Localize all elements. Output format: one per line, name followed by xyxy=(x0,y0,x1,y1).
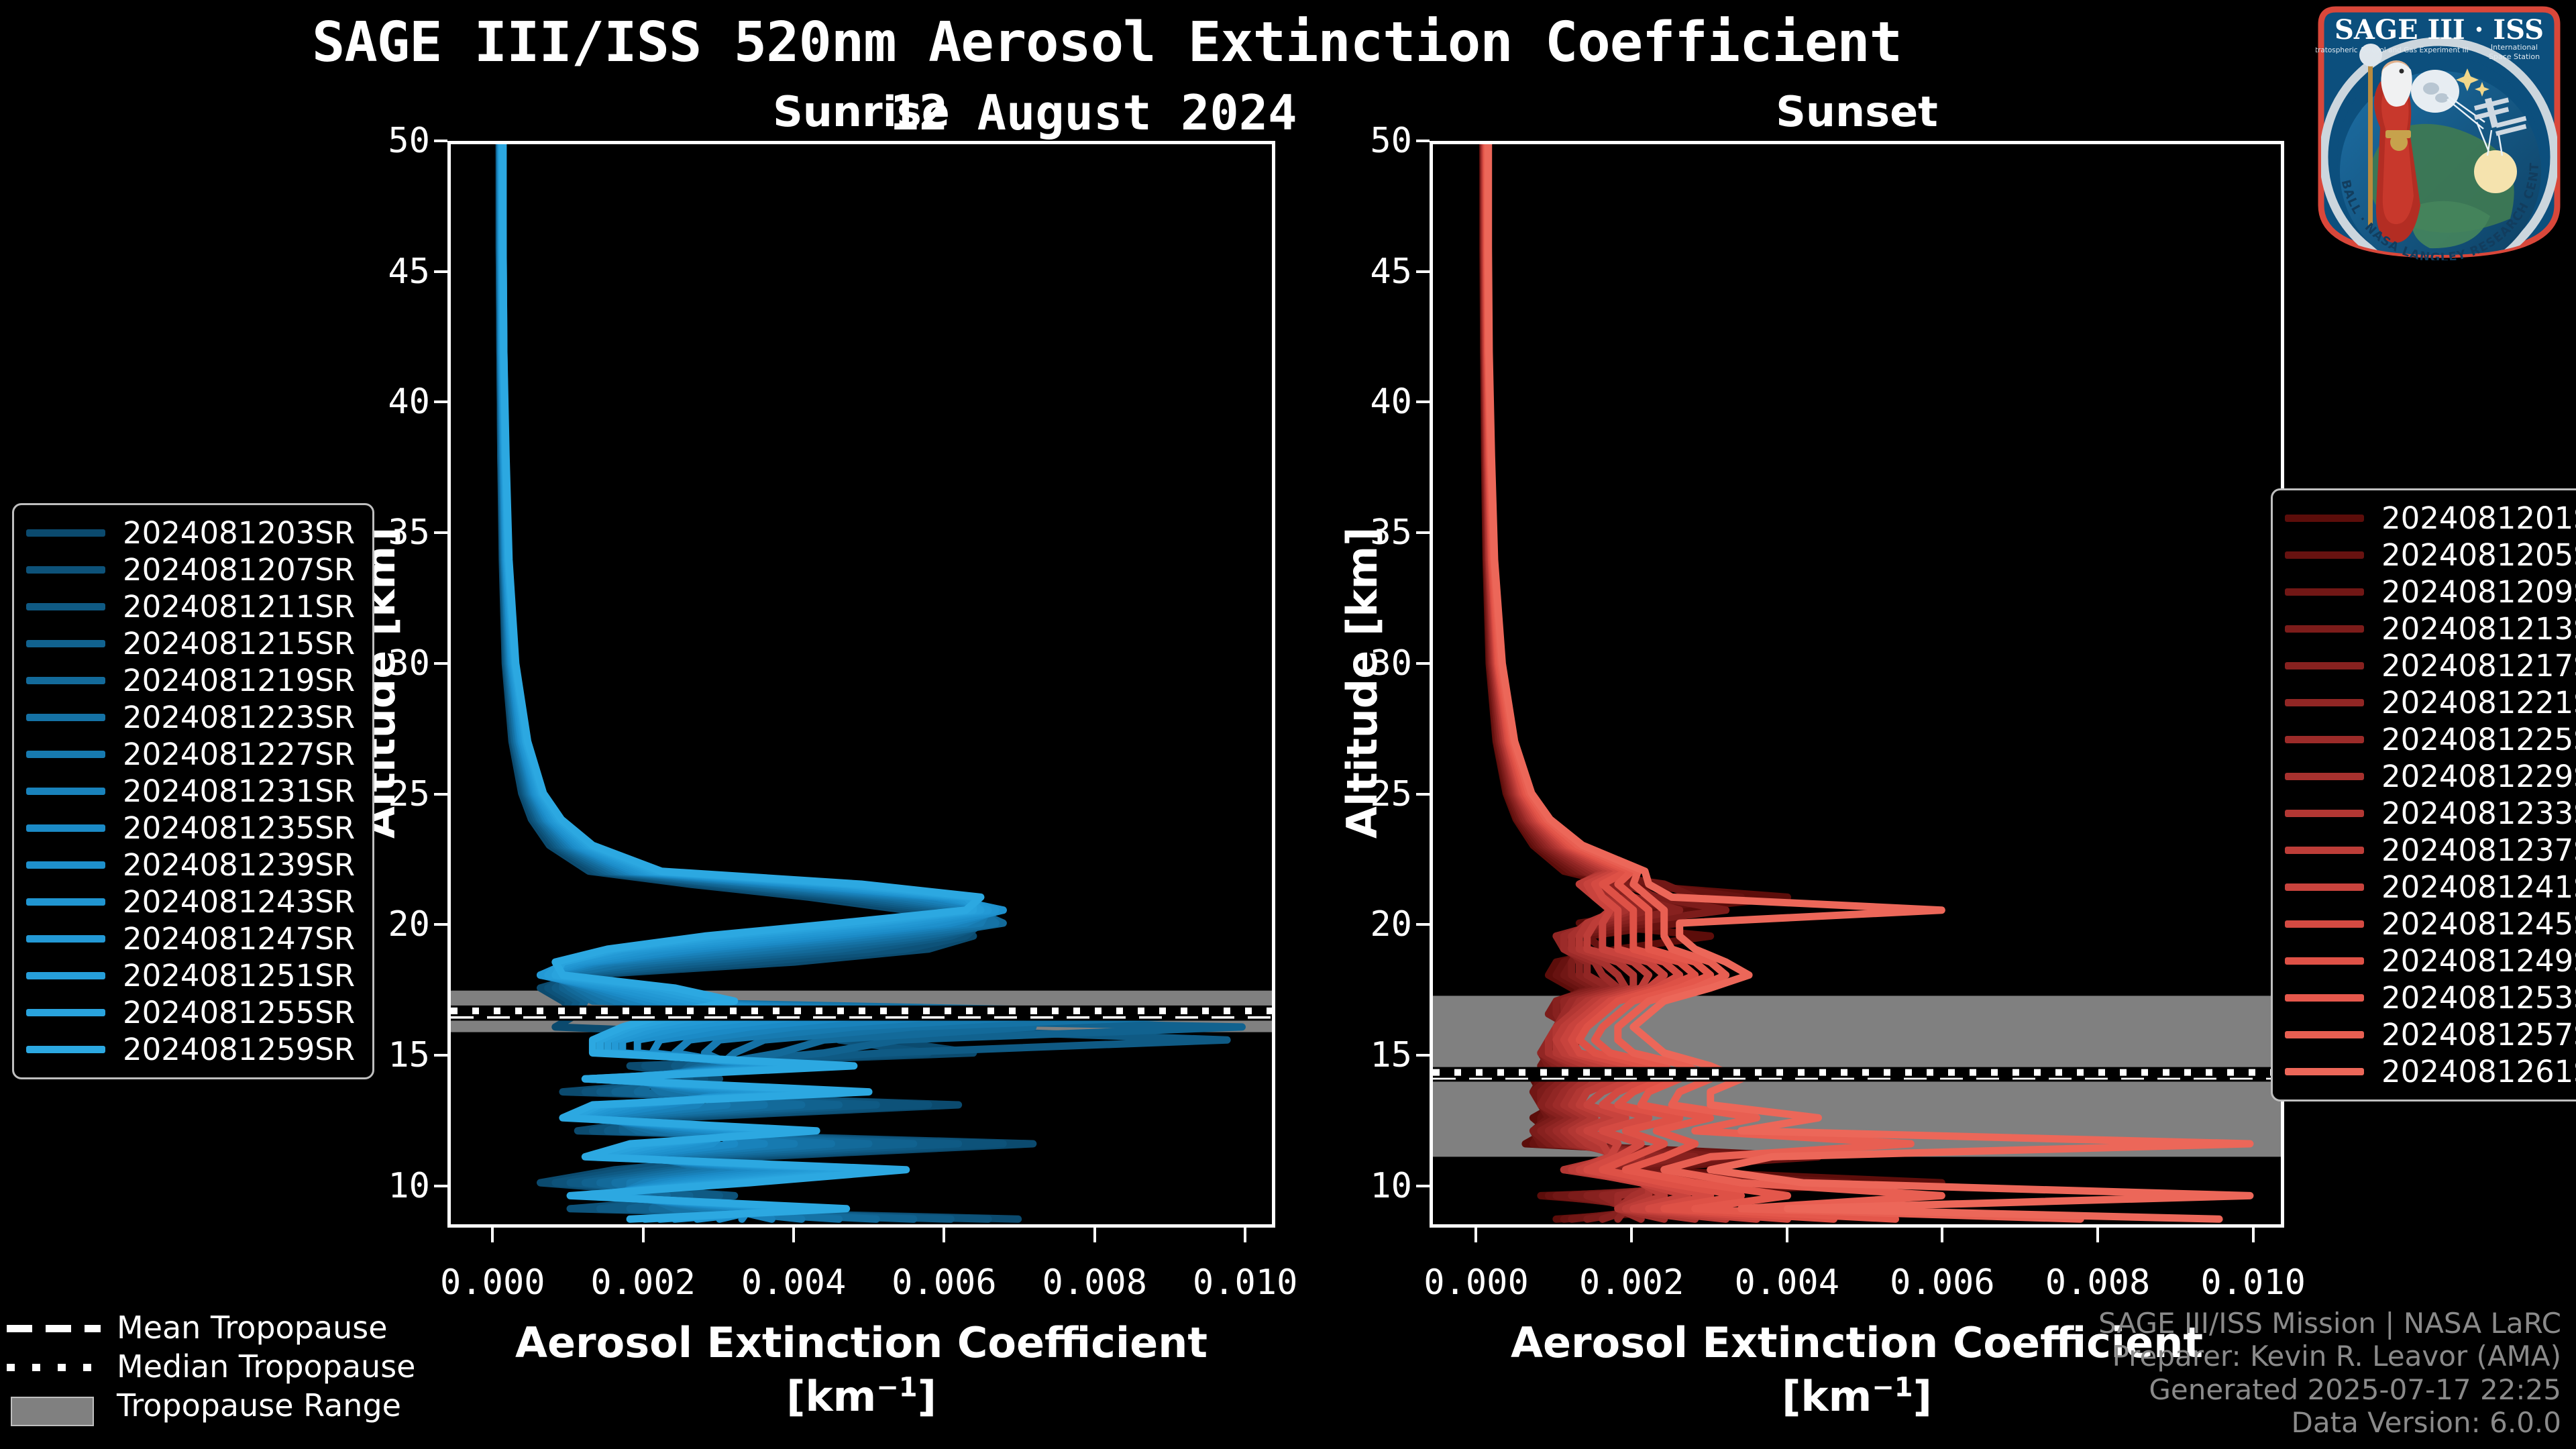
legend-color-swatch xyxy=(2285,920,2364,928)
legend-item-label: 2024081235SR xyxy=(123,810,355,846)
legend-color-swatch xyxy=(2285,699,2364,706)
legend-item[interactable]: 2024081219SR xyxy=(26,662,355,699)
y-tick-label: 20 xyxy=(388,904,430,945)
y-tick-label: 45 xyxy=(388,252,430,292)
y-tick-mark xyxy=(434,923,447,926)
legend-item-label: 2024081205SS xyxy=(2381,537,2576,573)
y-tick-label: 40 xyxy=(388,382,430,422)
footer-line-preparer: Preparer: Kevin R. Leavor (AMA) xyxy=(2098,1340,2561,1373)
legend-item[interactable]: 2024081245SS xyxy=(2285,906,2576,943)
legend-sunrise[interactable]: 2024081203SR2024081207SR2024081211SR2024… xyxy=(12,503,374,1079)
legend-item-label: 2024081217SS xyxy=(2381,648,2576,684)
legend-item[interactable]: 2024081215SR xyxy=(26,625,355,662)
plot-panel-sunrise xyxy=(447,141,1275,1228)
x-tick-mark xyxy=(1630,1228,1633,1242)
legend-item[interactable]: 2024081209SS xyxy=(2285,574,2576,610)
y-tick-label: 20 xyxy=(1370,904,1412,945)
legend-item[interactable]: 2024081229SS xyxy=(2285,758,2576,795)
legend-item[interactable]: 2024081201SS xyxy=(2285,500,2576,537)
legend-item-label: 2024081255SR xyxy=(123,995,355,1030)
legend-color-swatch xyxy=(2285,994,2364,1002)
legend-item-label: 2024081223SR xyxy=(123,700,355,735)
y-tick-mark xyxy=(434,1185,447,1187)
legend-color-swatch xyxy=(2285,773,2364,780)
legend-color-swatch xyxy=(26,935,105,943)
legend-color-swatch xyxy=(26,566,105,574)
legend-sunset[interactable]: 2024081201SS2024081205SS2024081209SS2024… xyxy=(2271,488,2576,1102)
y-tick-mark xyxy=(1416,270,1430,273)
logo-subtitle-left: Stratospheric Aerosol and Gas Experiment… xyxy=(2316,46,2469,54)
x-tick-label: 0.000 xyxy=(1424,1263,1529,1303)
legend-item-label: 2024081203SR xyxy=(123,515,355,551)
legend-item-label: 2024081227SR xyxy=(123,737,355,772)
y-tick-mark xyxy=(1416,1185,1430,1187)
plot-area-sunrise xyxy=(451,144,1272,1224)
dotted-line-icon xyxy=(7,1358,101,1375)
x-tick-mark xyxy=(1093,1228,1096,1242)
legend-item[interactable]: 2024081251SR xyxy=(26,957,355,994)
x-tick-label: 0.008 xyxy=(1042,1263,1147,1303)
legend-color-swatch xyxy=(26,861,105,869)
legend-color-swatch xyxy=(2285,736,2364,743)
footer-line-generated: Generated 2025-07-17 22:25 xyxy=(2098,1373,2561,1407)
tropopause-key-mean-label: Mean Tropopause xyxy=(117,1309,388,1346)
legend-item-label: 2024081245SS xyxy=(2381,906,2576,942)
unit-exponent: −1 xyxy=(1872,1372,1913,1403)
y-tick-mark xyxy=(1416,793,1430,796)
x-tick-label: 0.010 xyxy=(2200,1263,2306,1303)
sunrise-panel-title: Sunrise xyxy=(451,87,1272,136)
legend-item-label: 2024081261SS xyxy=(2381,1054,2576,1089)
x-tick-label: 0.004 xyxy=(1734,1263,1839,1303)
legend-item[interactable]: 2024081207SR xyxy=(26,551,355,588)
legend-item[interactable]: 2024081227SR xyxy=(26,736,355,773)
legend-item[interactable]: 2024081211SR xyxy=(26,588,355,625)
legend-color-swatch xyxy=(26,788,105,795)
legend-color-swatch xyxy=(26,640,105,647)
legend-item-label: 2024081221SS xyxy=(2381,685,2576,720)
y-tick-mark xyxy=(1416,531,1430,534)
y-tick-mark xyxy=(1416,923,1430,926)
tropopause-key-range-label: Tropopause Range xyxy=(117,1387,401,1424)
legend-item[interactable]: 2024081231SR xyxy=(26,773,355,810)
y-tick-mark xyxy=(1416,400,1430,403)
x-tick-mark xyxy=(1941,1228,1943,1242)
logo-title: SAGE III · ISS xyxy=(2334,14,2544,46)
logo-subtitle-right-1: International xyxy=(2491,43,2538,52)
legend-item-label: 2024081215SR xyxy=(123,626,355,661)
unit-close: ] xyxy=(1913,1372,1932,1421)
legend-item-label: 2024081209SS xyxy=(2381,574,2576,610)
legend-color-swatch xyxy=(2285,810,2364,817)
legend-color-swatch xyxy=(26,898,105,906)
legend-item-label: 2024081229SS xyxy=(2381,759,2576,794)
x-tick-label: 0.010 xyxy=(1193,1263,1298,1303)
y-tick-label: 10 xyxy=(1370,1166,1412,1206)
legend-color-swatch xyxy=(2285,588,2364,596)
y-tick-mark xyxy=(434,270,447,273)
legend-item[interactable]: 2024081247SR xyxy=(26,920,355,957)
legend-item-label: 2024081249SS xyxy=(2381,943,2576,979)
logo-subtitle-right-2: Space Station xyxy=(2489,52,2540,61)
dashed-line-icon xyxy=(7,1319,101,1336)
x-tick-mark xyxy=(792,1228,795,1242)
legend-item-label: 2024081207SR xyxy=(123,552,355,588)
page-title: SAGE III/ISS 520nm Aerosol Extinction Co… xyxy=(0,11,2214,74)
legend-color-swatch xyxy=(2285,625,2364,633)
x-tick-label: 0.008 xyxy=(2045,1263,2151,1303)
x-tick-mark xyxy=(2252,1228,2255,1242)
legend-item-label: 2024081231SR xyxy=(123,773,355,809)
y-tick-label: 15 xyxy=(1370,1035,1412,1075)
x-tick-mark xyxy=(642,1228,645,1242)
legend-item[interactable]: 2024081255SR xyxy=(26,994,355,1031)
legend-item[interactable]: 2024081235SR xyxy=(26,810,355,847)
unit-exponent: −1 xyxy=(876,1372,917,1403)
x-axis-sunrise: Aerosol Extinction Coefficient [km−1] 0.… xyxy=(447,1228,1275,1375)
tropopause-key-mean: Mean Tropopause xyxy=(7,1308,415,1347)
legend-item-label: 2024081211SR xyxy=(123,589,355,625)
tropopause-key-range: Tropopause Range xyxy=(7,1386,415,1425)
legend-item[interactable]: 2024081239SR xyxy=(26,847,355,883)
footer-credits: SAGE III/ISS Mission | NASA LaRC Prepare… xyxy=(2098,1307,2561,1440)
x-tick-mark xyxy=(491,1228,494,1242)
y-tick-label: 50 xyxy=(1370,121,1412,161)
tropopause-key-median: Median Tropopause xyxy=(7,1347,415,1386)
legend-color-swatch xyxy=(26,1046,105,1053)
unit-close: ] xyxy=(918,1372,936,1421)
plot-panel-sunset xyxy=(1430,141,2284,1228)
legend-item-label: 2024081225SS xyxy=(2381,722,2576,757)
legend-color-swatch xyxy=(26,824,105,832)
legend-color-swatch xyxy=(2285,1031,2364,1038)
tropopause-key-median-label: Median Tropopause xyxy=(117,1348,415,1385)
legend-item[interactable]: 2024081253SS xyxy=(2285,979,2576,1016)
y-tick-mark xyxy=(1416,1054,1430,1057)
unit-base: [km xyxy=(1782,1372,1872,1421)
y-tick-label: 40 xyxy=(1370,382,1412,422)
sage-iii-iss-mission-patch-logo: SAGE III · ISS Stratospheric Aerosol and… xyxy=(2316,4,2563,260)
legend-item[interactable]: 2024081213SS xyxy=(2285,610,2576,647)
y-tick-mark xyxy=(1416,140,1430,142)
legend-color-swatch xyxy=(26,1009,105,1016)
x-tick-mark xyxy=(2096,1228,2099,1242)
y-tick-mark xyxy=(434,793,447,796)
legend-color-swatch xyxy=(2285,847,2364,854)
x-tick-label: 0.002 xyxy=(590,1263,696,1303)
x-tick-mark xyxy=(1474,1228,1477,1242)
y-tick-mark xyxy=(434,662,447,665)
footer-line-mission: SAGE III/ISS Mission | NASA LaRC xyxy=(2098,1307,2561,1340)
legend-item[interactable]: 2024081259SR xyxy=(26,1031,355,1068)
legend-color-swatch xyxy=(26,751,105,758)
y-tick-label: 10 xyxy=(388,1166,430,1206)
legend-color-swatch xyxy=(26,677,105,684)
y-axis-label-sunset: Altitude [km] xyxy=(1338,527,1387,839)
filled-band-icon xyxy=(7,1397,101,1414)
y-tick-label: 45 xyxy=(1370,252,1412,292)
legend-item-label: 2024081219SR xyxy=(123,663,355,698)
legend-item[interactable]: 2024081225SS xyxy=(2285,721,2576,758)
sunset-panel-title: Sunset xyxy=(1433,87,2281,136)
legend-item-label: 2024081247SR xyxy=(123,921,355,957)
legend-item[interactable]: 2024081233SS xyxy=(2285,795,2576,832)
legend-color-swatch xyxy=(2285,883,2364,891)
legend-item[interactable]: 2024081221SS xyxy=(2285,684,2576,721)
footer-line-version: Data Version: 6.0.0 xyxy=(2098,1406,2561,1440)
legend-item[interactable]: 2024081243SR xyxy=(26,883,355,920)
x-tick-label: 0.006 xyxy=(1890,1263,1995,1303)
tropopause-key: Mean Tropopause Median Tropopause Tropop… xyxy=(7,1308,415,1425)
x-tick-mark xyxy=(1786,1228,1788,1242)
y-tick-label: 50 xyxy=(388,121,430,161)
x-tick-mark xyxy=(943,1228,945,1242)
y-tick-mark xyxy=(434,1054,447,1057)
legend-color-swatch xyxy=(2285,957,2364,965)
x-tick-mark xyxy=(1244,1228,1246,1242)
legend-item[interactable]: 2024081237SS xyxy=(2285,832,2576,869)
legend-color-swatch xyxy=(26,972,105,979)
legend-item[interactable]: 2024081203SR xyxy=(26,515,355,551)
x-axis-label-sunrise: Aerosol Extinction Coefficient xyxy=(447,1318,1275,1367)
legend-color-swatch xyxy=(2285,662,2364,669)
legend-item[interactable]: 2024081241SS xyxy=(2285,869,2576,906)
legend-item-label: 2024081233SS xyxy=(2381,796,2576,831)
legend-item[interactable]: 2024081249SS xyxy=(2285,943,2576,979)
y-tick-label: 15 xyxy=(388,1035,430,1075)
x-axis-unit-sunrise: [km−1] xyxy=(447,1372,1275,1421)
legend-color-swatch xyxy=(2285,551,2364,559)
legend-item[interactable]: 2024081223SR xyxy=(26,699,355,736)
x-tick-label: 0.002 xyxy=(1579,1263,1684,1303)
y-tick-mark xyxy=(434,400,447,403)
x-tick-label: 0.006 xyxy=(892,1263,997,1303)
legend-color-swatch xyxy=(2285,515,2364,522)
data-series-line xyxy=(499,144,1227,1219)
legend-item-label: 2024081201SS xyxy=(2381,500,2576,536)
legend-color-swatch xyxy=(2285,1068,2364,1075)
legend-color-swatch xyxy=(26,603,105,610)
plot-area-sunset xyxy=(1433,144,2281,1224)
legend-item-label: 2024081259SR xyxy=(123,1032,355,1067)
legend-item-label: 2024081251SR xyxy=(123,958,355,994)
x-tick-label: 0.004 xyxy=(741,1263,847,1303)
legend-item-label: 2024081257SS xyxy=(2381,1017,2576,1053)
legend-item-label: 2024081253SS xyxy=(2381,980,2576,1016)
x-tick-label: 0.000 xyxy=(440,1263,545,1303)
legend-item[interactable]: 2024081217SS xyxy=(2285,647,2576,684)
legend-item-label: 2024081241SS xyxy=(2381,869,2576,905)
legend-item-label: 2024081243SR xyxy=(123,884,355,920)
unit-base: [km xyxy=(786,1372,876,1421)
legend-color-swatch xyxy=(26,529,105,537)
y-tick-mark xyxy=(434,140,447,142)
legend-item-label: 2024081239SR xyxy=(123,847,355,883)
legend-item[interactable]: 2024081261SS xyxy=(2285,1053,2576,1090)
y-tick-mark xyxy=(434,531,447,534)
y-tick-mark xyxy=(1416,662,1430,665)
legend-item-label: 2024081237SS xyxy=(2381,833,2576,868)
legend-color-swatch xyxy=(26,714,105,721)
legend-item-label: 2024081213SS xyxy=(2381,611,2576,647)
legend-item[interactable]: 2024081205SS xyxy=(2285,537,2576,574)
legend-item[interactable]: 2024081257SS xyxy=(2285,1016,2576,1053)
